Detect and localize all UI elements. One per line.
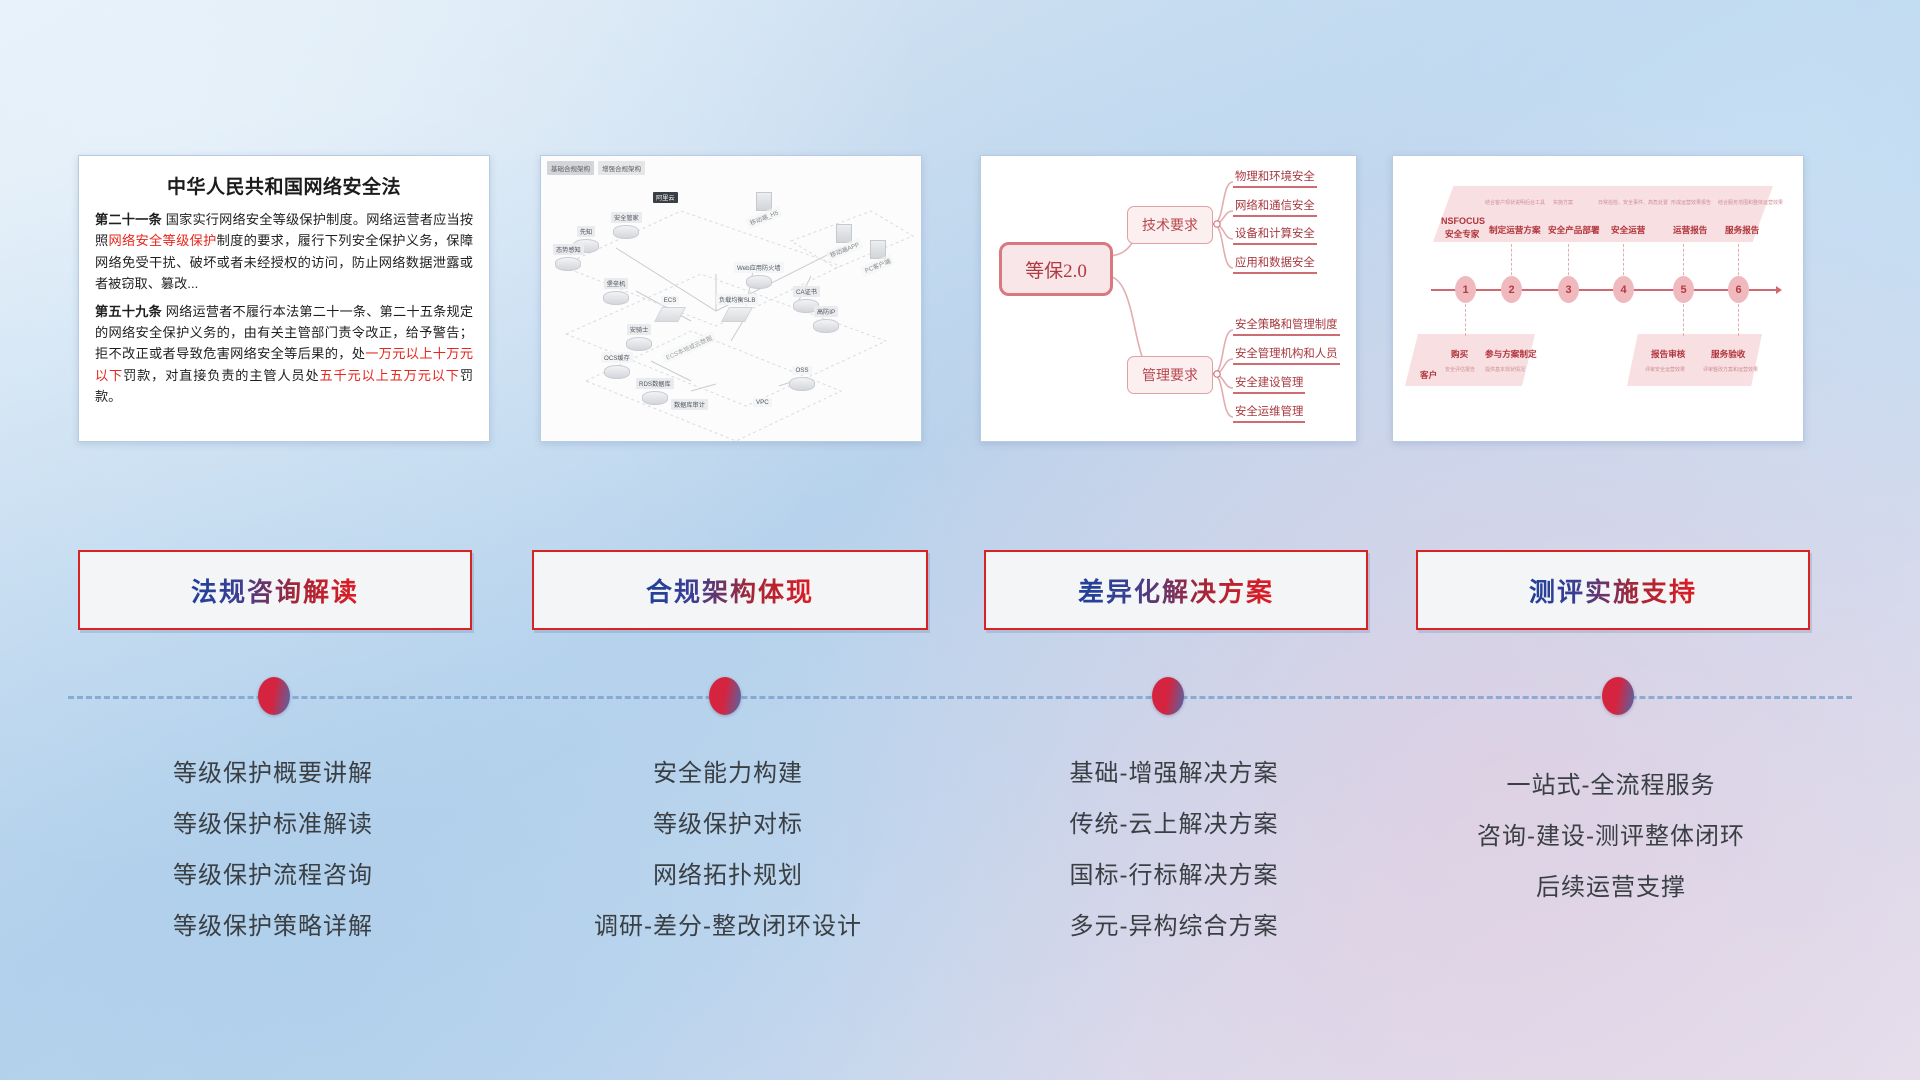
bottom-step-sub: 提供基本现状情况 [1485, 366, 1525, 373]
node-situational-awareness: 态势感知 [553, 244, 584, 271]
mindmap-root: 等保2.0 [999, 242, 1113, 296]
timeline-step-1: 1 [1455, 276, 1476, 303]
disk-icon [604, 365, 630, 379]
article-21-highlight: 网络安全等级保护 [109, 233, 217, 248]
architecture-diagram: 基础合规架构 增强合规架构 [541, 156, 921, 441]
disk-icon [626, 337, 652, 351]
mindmap-diagram: 等保2.0 技术要求 管理要求 物理和环境安全 网络和通信安全 设备和计算安全 … [981, 156, 1356, 441]
disk-icon [746, 275, 772, 289]
timeline-step-6: 6 [1728, 276, 1749, 303]
list-item: 等级保护流程咨询 [78, 850, 468, 901]
node-label: 数据库审计 [671, 399, 708, 410]
article-59-penalty-2: 五千元以上五万元以下 [320, 368, 460, 383]
step-title: 制定运营方案 [1489, 224, 1541, 236]
step-sub: 结合客户现状说明后台工具 [1485, 199, 1545, 206]
branch-label: 管理要求 [1142, 365, 1198, 385]
node-label: 堡垒机 [604, 278, 629, 289]
timeline-step-3: 3 [1558, 276, 1579, 303]
step-sub: 结合服务范围和整体运营效果 [1718, 199, 1783, 206]
disk-icon [642, 391, 668, 405]
node-label: 态势感知 [553, 244, 584, 255]
card-architecture: 基础合规架构 增强合规架构 [540, 155, 922, 442]
node-label: 安全管家 [611, 212, 642, 223]
collapse-handle-mgmt [1214, 371, 1220, 377]
step-connector [1511, 244, 1512, 280]
column-list-1: 等级保护概要讲解 等级保护标准解读 等级保护流程咨询 等级保护策略详解 [78, 748, 468, 952]
node-oss: OSS [789, 366, 815, 391]
law-article-21: 第二十一条 国家实行网络安全等级保护制度。网络运营者应当按照网络安全等级保护制度… [95, 209, 473, 295]
disk-icon [813, 319, 839, 333]
step-sub: 日常巡检、安全事件、高危处置 [1598, 199, 1668, 206]
mindmap-leaf: 安全建设管理 [1233, 374, 1305, 394]
mindmap-leaf: 物理和环境安全 [1233, 168, 1317, 188]
mindmap-leaf: 网络和通信安全 [1233, 197, 1317, 217]
list-item: 安全能力构建 [532, 748, 924, 799]
poster-stage: 中华人民共和国网络安全法 第二十一条 国家实行网络安全等级保护制度。网络运营者应… [0, 0, 1920, 1080]
bottom-step-title: 报告审核 [1651, 348, 1685, 360]
step-sub: 形成运营效果报告 [1671, 199, 1711, 206]
expert-band [1433, 186, 1773, 242]
bottom-step-title: 服务验收 [1711, 348, 1745, 360]
node-label: 先知 [577, 226, 595, 237]
node-label: OCS缓存 [601, 352, 633, 363]
node-label: Web应用防火墙 [734, 262, 784, 273]
bottom-step-title: 参与方案制定 [1485, 348, 1537, 360]
list-item: 网络拓扑规划 [532, 850, 924, 901]
timeline-dot-4 [1602, 677, 1634, 715]
node-label: 安骑士 [627, 324, 652, 335]
list-item: 等级保护对标 [532, 799, 924, 850]
mindmap-leaf: 安全运维管理 [1233, 403, 1305, 423]
heading-label: 测评实施支持 [1529, 572, 1697, 609]
step-title: 安全运营 [1611, 224, 1645, 236]
node-pc-client: PC客户端 [861, 240, 894, 271]
node-label: ECS [661, 296, 680, 305]
timeline-step-5: 5 [1673, 276, 1694, 303]
timeline-dot-1 [258, 677, 290, 715]
bottom-step-sub: 评审整改方案和运营效果 [1703, 366, 1758, 373]
step-title: 服务报告 [1725, 224, 1759, 236]
timeline-dot-3 [1152, 677, 1184, 715]
heading-label: 合规架构体现 [646, 572, 814, 609]
list-item: 基础-增强解决方案 [984, 748, 1364, 799]
node-mobile-h5: 移动端_H5 [746, 192, 782, 223]
card-nsfocus-timeline: NSFOCUS 安全专家 客户 结合客户现状说明后台工具 制定运营方案 实施方案… [1392, 155, 1804, 442]
list-item: 多元-异构综合方案 [984, 901, 1364, 952]
review-band [1627, 334, 1762, 386]
node-label: VPC [753, 398, 772, 407]
article-59-label: 第五十九条 [95, 304, 162, 319]
heading-box-2[interactable]: 合规架构体现 [532, 550, 928, 630]
node-aliyun: 阿里云 [653, 192, 678, 203]
column-list-3: 基础-增强解决方案 传统-云上解决方案 国标-行标解决方案 多元-异构综合方案 [984, 748, 1364, 952]
node-web-application-firewall: Web应用防火墙 [734, 262, 784, 289]
expert-label-line2: 安全专家 [1445, 228, 1479, 240]
expert-label-line1: NSFOCUS [1441, 216, 1485, 226]
bottom-step-sub: 评审安全运营效果 [1645, 366, 1685, 373]
node-label: 负载均衡SLB [716, 294, 758, 305]
node-label: 高防IP [814, 306, 838, 317]
heading-box-3[interactable]: 差异化解决方案 [984, 550, 1368, 630]
node-rds-database: RDS数据库 [636, 378, 674, 405]
step-connector [1465, 304, 1466, 336]
heading-box-1[interactable]: 法规咨询解读 [78, 550, 472, 630]
node-ecs: ECS [658, 296, 682, 322]
list-item: 一站式-全流程服务 [1416, 760, 1806, 811]
collapse-handle-tech [1214, 221, 1220, 227]
step-title: 运营报告 [1673, 224, 1707, 236]
mindmap-branch-management: 管理要求 [1127, 356, 1213, 394]
timeline-dashed-line [68, 696, 1852, 699]
mindmap-leaf: 应用和数据安全 [1233, 254, 1317, 274]
column-list-2: 安全能力构建 等级保护对标 网络拓扑规划 调研-差分-整改闭环设计 [532, 748, 924, 952]
disk-icon [789, 377, 815, 391]
branch-label: 技术要求 [1142, 215, 1198, 235]
step-connector [1738, 244, 1739, 280]
step-connector [1623, 244, 1624, 280]
step-title: 安全产品部署 [1548, 224, 1600, 236]
column-list-4: 一站式-全流程服务 咨询-建设-测评整体闭环 后续运营支撑 [1416, 760, 1806, 913]
mindmap-leaf: 设备和计算安全 [1233, 225, 1317, 245]
list-item: 调研-差分-整改闭环设计 [532, 901, 924, 952]
step-sub: 实施方案 [1553, 199, 1573, 206]
customer-label: 客户 [1420, 369, 1437, 381]
node-mobile-app: 移动端APP [826, 224, 863, 255]
heading-box-4[interactable]: 测评实施支持 [1416, 550, 1810, 630]
list-item: 后续运营支撑 [1416, 862, 1806, 913]
step-connector [1683, 304, 1684, 336]
list-item: 等级保护标准解读 [78, 799, 468, 850]
timeline-dot-2 [709, 677, 741, 715]
step-connector [1738, 304, 1739, 336]
law-article-59: 第五十九条 网络运营者不履行本法第二十一条、第二十五条规定的网络安全保护义务的，… [95, 301, 473, 408]
node-bastion-host: 堡垒机 [603, 278, 629, 305]
disk-icon [613, 225, 639, 239]
node-database-audit: 数据库审计 [671, 399, 708, 410]
mindmap-leaf: 安全策略和管理制度 [1233, 316, 1340, 336]
node-ecs-local-storage: ECS本地或云数据 [661, 342, 717, 353]
step-connector [1683, 244, 1684, 280]
heading-label: 差异化解决方案 [1078, 572, 1274, 609]
node-label: RDS数据库 [636, 378, 674, 389]
list-item: 咨询-建设-测评整体闭环 [1416, 811, 1806, 862]
node-ocs-cache: OCS缓存 [601, 352, 633, 379]
cube-icon [721, 307, 753, 322]
card-mindmap: 等保2.0 技术要求 管理要求 物理和环境安全 网络和通信安全 设备和计算安全 … [980, 155, 1357, 442]
bottom-step-sub: 安全评估报告 [1445, 366, 1475, 373]
law-title: 中华人民共和国网络安全法 [95, 172, 473, 199]
heading-label: 法规咨询解读 [191, 572, 359, 609]
card-law: 中华人民共和国网络安全法 第二十一条 国家实行网络安全等级保护制度。网络运营者应… [78, 155, 490, 442]
timeline-axis [1431, 289, 1776, 291]
bottom-step-title: 购买 [1451, 348, 1468, 360]
disk-icon [603, 291, 629, 305]
article-21-label: 第二十一条 [95, 212, 162, 227]
disk-icon [555, 257, 581, 271]
article-59-text-b: 罚款，对直接负责的主管人员处 [123, 368, 319, 383]
node-security-butler: 安全管家 [611, 212, 642, 239]
list-item: 传统-云上解决方案 [984, 799, 1364, 850]
nsfocus-diagram: NSFOCUS 安全专家 客户 结合客户现状说明后台工具 制定运营方案 实施方案… [1393, 156, 1803, 441]
node-label: OSS [792, 366, 811, 375]
list-item: 等级保护策略详解 [78, 901, 468, 952]
timeline-step-2: 2 [1501, 276, 1522, 303]
timeline-step-4: 4 [1613, 276, 1634, 303]
node-label: CA证书 [793, 286, 820, 297]
node-load-balancer-slb: 负载均衡SLB [716, 294, 758, 322]
mindmap-leaf: 安全管理机构和人员 [1233, 345, 1340, 365]
list-item: 国标-行标解决方案 [984, 850, 1364, 901]
cube-icon [654, 307, 686, 322]
timeline-arrow-icon [1776, 286, 1782, 294]
node-anti-ddos-ip: 高防IP [813, 306, 839, 333]
node-label: 阿里云 [653, 192, 678, 203]
law-document: 中华人民共和国网络安全法 第二十一条 国家实行网络安全等级保护制度。网络运营者应… [79, 156, 489, 441]
node-anqishi: 安骑士 [626, 324, 652, 351]
node-vpc: VPC [753, 398, 772, 407]
list-item: 等级保护概要讲解 [78, 748, 468, 799]
step-connector [1568, 244, 1569, 280]
mindmap-branch-technical: 技术要求 [1127, 206, 1213, 244]
